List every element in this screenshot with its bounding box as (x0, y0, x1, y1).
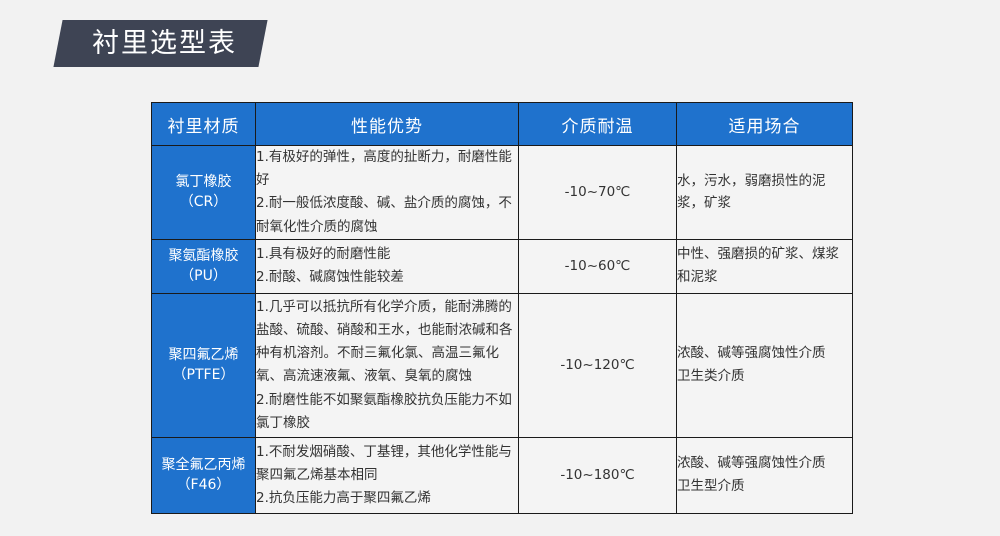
material-name: 聚氨酯橡胶 (152, 246, 255, 266)
table-row: 聚四氟乙烯 （PTFE） 1.几乎可以抵抗所有化学介质，能耐沸腾的盐酸、硫酸、硝… (152, 293, 853, 437)
cell-performance: 1.具有极好的耐磨性能 2.耐酸、碱腐蚀性能较差 (256, 239, 519, 293)
page-title: 衬里选型表 (92, 30, 237, 57)
column-header-temperature: 介质耐温 (519, 103, 677, 146)
material-abbreviation: （CR） (152, 192, 255, 212)
material-name: 聚四氟乙烯 (152, 345, 255, 365)
material-abbreviation: （PTFE） (152, 365, 255, 385)
cell-material: 聚四氟乙烯 （PTFE） (152, 293, 256, 437)
table-header-row: 衬里材质 性能优势 介质耐温 适用场合 (152, 103, 853, 146)
cell-application: 水，污水，弱磨损性的泥浆，矿浆 (677, 146, 853, 240)
table-row: 氯丁橡胶 （CR） 1.有极好的弹性，高度的扯断力，耐磨性能好 2.耐一般低浓度… (152, 146, 853, 240)
cell-performance: 1.有极好的弹性，高度的扯断力，耐磨性能好 2.耐一般低浓度酸、碱、盐介质的腐蚀… (256, 146, 519, 240)
material-name: 氯丁橡胶 (152, 172, 255, 192)
table-row: 聚全氟乙丙烯 （F46） 1.不耐发烟硝酸、丁基锂，其他化学性能与聚四氟乙烯基本… (152, 437, 853, 513)
cell-temperature: -10~70℃ (519, 146, 677, 240)
cell-performance: 1.不耐发烟硝酸、丁基锂，其他化学性能与聚四氟乙烯基本相同 2.抗负压能力高于聚… (256, 437, 519, 513)
column-header-application: 适用场合 (677, 103, 853, 146)
cell-material: 聚全氟乙丙烯 （F46） (152, 437, 256, 513)
page-title-banner: 衬里选型表 (53, 20, 267, 67)
cell-temperature: -10~180℃ (519, 437, 677, 513)
material-name: 聚全氟乙丙烯 (152, 455, 255, 475)
cell-temperature: -10~60℃ (519, 239, 677, 293)
column-header-material: 衬里材质 (152, 103, 256, 146)
cell-material: 氯丁橡胶 （CR） (152, 146, 256, 240)
material-abbreviation: （PU） (152, 266, 255, 286)
cell-application: 浓酸、碱等强腐蚀性介质 卫生类介质 (677, 293, 853, 437)
column-header-performance: 性能优势 (256, 103, 519, 146)
cell-temperature: -10~120℃ (519, 293, 677, 437)
table-row: 聚氨酯橡胶 （PU） 1.具有极好的耐磨性能 2.耐酸、碱腐蚀性能较差 -10~… (152, 239, 853, 293)
material-abbreviation: （F46） (152, 475, 255, 495)
cell-material: 聚氨酯橡胶 （PU） (152, 239, 256, 293)
cell-performance: 1.几乎可以抵抗所有化学介质，能耐沸腾的盐酸、硫酸、硝酸和王水，也能耐浓碱和各种… (256, 293, 519, 437)
lining-selection-table: 衬里材质 性能优势 介质耐温 适用场合 氯丁橡胶 （CR） 1.有极好的弹性，高… (151, 102, 853, 514)
cell-application: 中性、强磨损的矿浆、煤浆和泥浆 (677, 239, 853, 293)
lining-selection-table-container: 衬里材质 性能优势 介质耐温 适用场合 氯丁橡胶 （CR） 1.有极好的弹性，高… (151, 102, 852, 514)
cell-application: 浓酸、碱等强腐蚀性介质 卫生型介质 (677, 437, 853, 513)
